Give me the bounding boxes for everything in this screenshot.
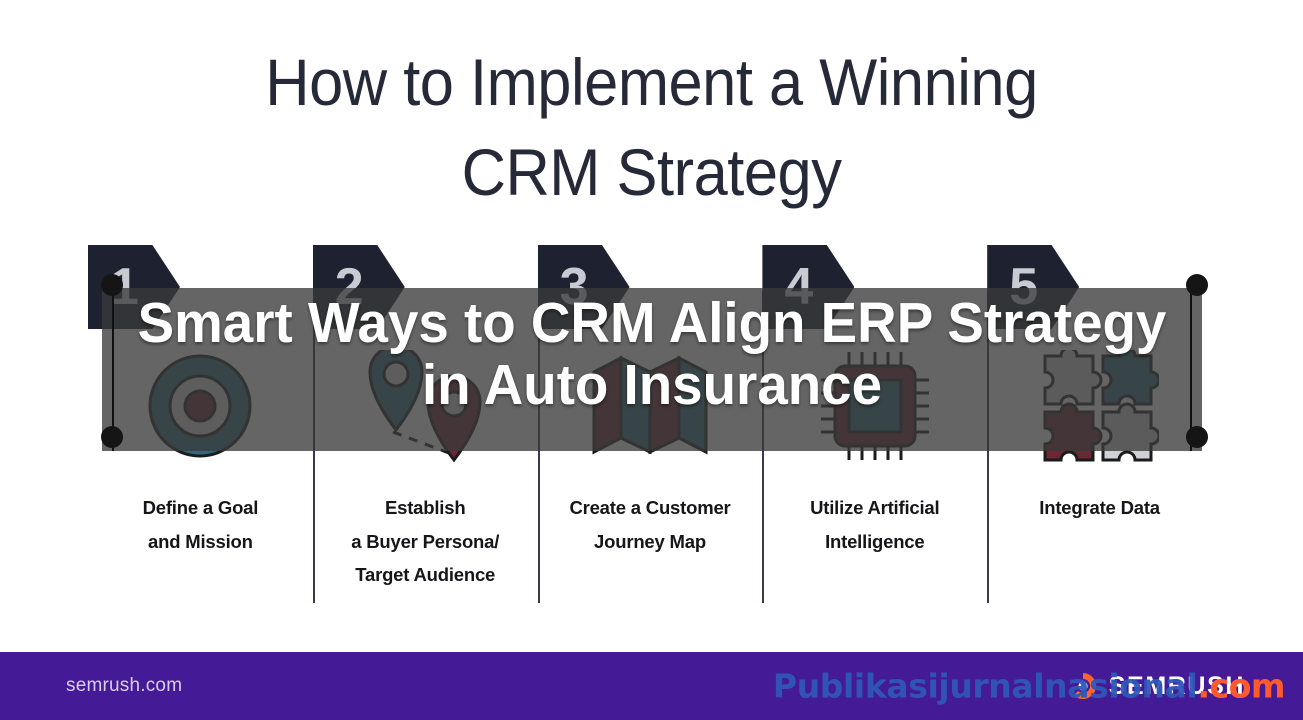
page-title: How to Implement a Winning CRM Strategy <box>46 38 1258 218</box>
overlay-headline[interactable]: Smart Ways to CRM Align ERP Strategy in … <box>118 292 1186 416</box>
watermark-primary: Publikasijurnalnasional <box>773 667 1198 706</box>
slide-canvas: How to Implement a Winning CRM Strategy … <box>0 0 1303 720</box>
site-watermark: Publikasijurnalnasional.com <box>773 667 1285 706</box>
step-4-label: Utilize Artificial Intelligence <box>762 491 987 558</box>
step-5-label: Integrate Data <box>987 491 1212 525</box>
step-3-label: Create a Customer Journey Map <box>538 491 763 558</box>
step-1-label: Define a Goal and Mission <box>88 491 313 558</box>
watermark-suffix: .com <box>1197 667 1285 706</box>
footer-bar: semrush.com SEMRUSH Publikasijurnalnasio… <box>0 652 1303 720</box>
footer-url-label[interactable]: semrush.com <box>66 675 182 697</box>
step-2-label: Establish a Buyer Persona/ Target Audien… <box>313 491 538 592</box>
